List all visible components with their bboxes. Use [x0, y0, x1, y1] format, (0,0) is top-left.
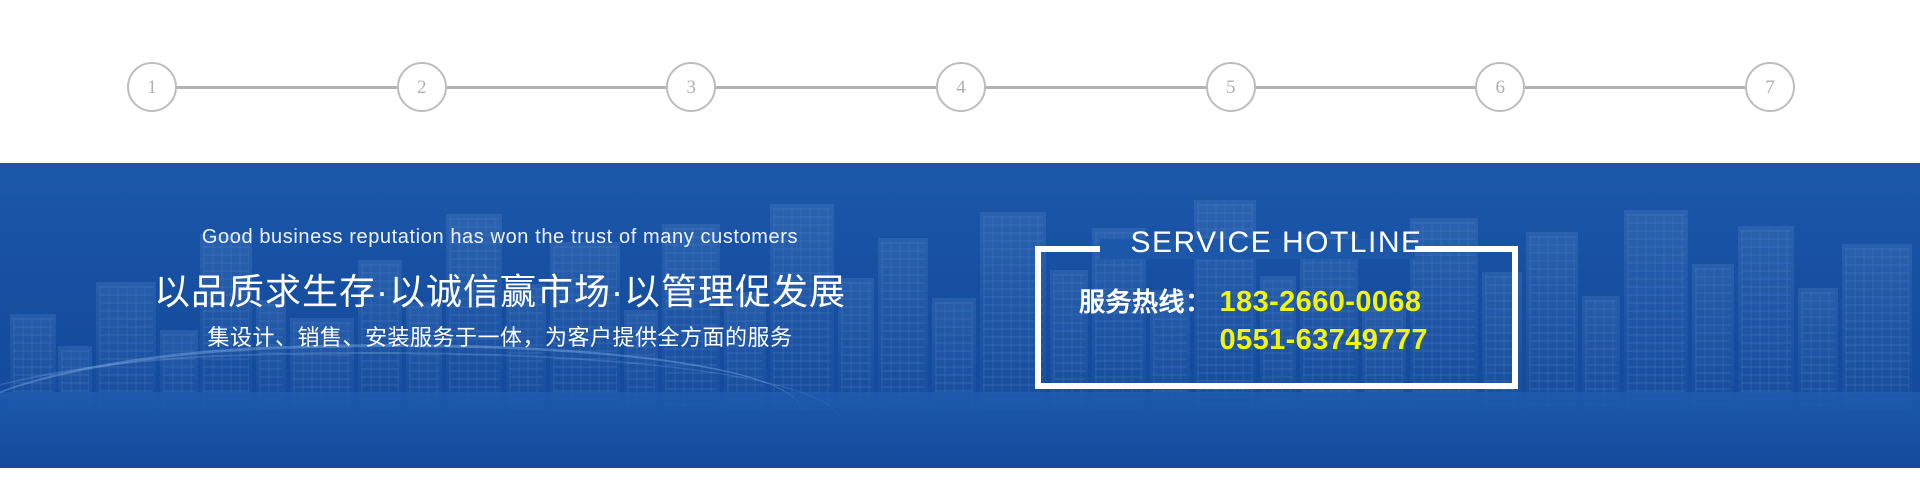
step-node-4[interactable]: 4 [936, 62, 986, 112]
step-label-3: 3 [687, 78, 697, 97]
step-label-2: 2 [417, 78, 427, 97]
hotline-label: 服务热线： [1079, 282, 1212, 319]
hotline-title: SERVICE HOTLINE [1035, 226, 1518, 260]
page-root: 1 2 3 4 5 6 7 [0, 0, 1920, 500]
step-node-5[interactable]: 5 [1206, 62, 1256, 112]
step-label-6: 6 [1496, 78, 1506, 97]
step-label-1: 1 [147, 78, 157, 97]
slogan-english: Good business reputation has won the tru… [0, 226, 1000, 249]
step-progress-bar: 1 2 3 4 5 6 7 [0, 0, 1920, 163]
step-label-4: 4 [956, 78, 966, 97]
step-node-7[interactable]: 7 [1745, 62, 1795, 112]
hotline-number-secondary[interactable]: 0551-63749777 [1220, 321, 1428, 359]
slogan-chinese-main: 以品质求生存·以诚信赢市场·以管理促发展 [0, 263, 1000, 315]
slogan-chinese-sub: 集设计、销售、安装服务于一体，为客户提供全方面的服务 [0, 320, 1000, 352]
service-hotline-box: SERVICE HOTLINE 服务热线： 183-2660-0068 0551… [1035, 246, 1518, 389]
step-node-2[interactable]: 2 [397, 62, 447, 112]
step-node-3[interactable]: 3 [666, 62, 716, 112]
hotline-row: 服务热线： 183-2660-0068 0551-63749777 [1035, 282, 1518, 360]
slogan-block: Good business reputation has won the tru… [0, 163, 1000, 468]
step-label-7: 7 [1765, 78, 1775, 97]
step-node-6[interactable]: 6 [1475, 62, 1525, 112]
hotline-number-primary[interactable]: 183-2660-0068 [1220, 283, 1428, 321]
hotline-numbers: 183-2660-0068 0551-63749777 [1220, 283, 1428, 360]
blue-banner: Good business reputation has won the tru… [0, 163, 1920, 468]
step-node-1[interactable]: 1 [127, 62, 177, 112]
step-label-5: 5 [1226, 78, 1236, 97]
